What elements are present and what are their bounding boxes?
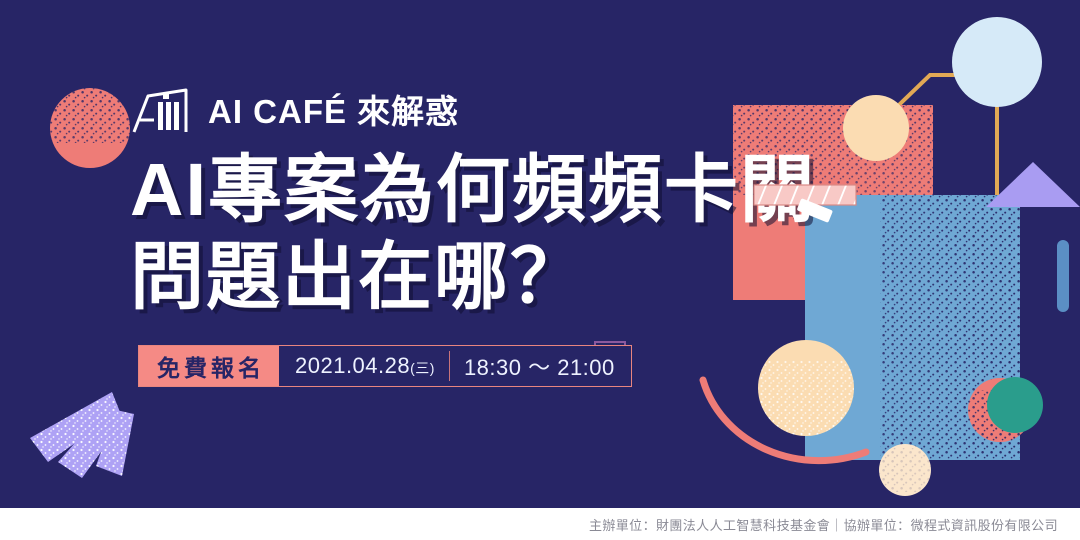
peach-circle-lower-icon — [758, 340, 854, 436]
brand-name: AI CAFÉ 來解惑 — [208, 95, 459, 128]
event-date-value: 2021.04.28 — [295, 353, 410, 379]
event-info-fields: 2021.04.28 (三) 18:30 ～ 21:00 — [279, 346, 631, 386]
coral-circle-top-left-icon — [50, 88, 130, 168]
footer-credits: 主辦單位：財團法人人工智慧科技基金會｜協辦單位：微程式資訊股份有限公司 — [589, 515, 1080, 534]
blue-rounded-bar-icon — [1057, 240, 1069, 312]
teal-circle-icon — [987, 377, 1043, 433]
event-weekday: (三) — [410, 358, 435, 378]
decorative-graphics — [0, 0, 1080, 508]
info-divider — [449, 351, 450, 381]
peach-circle-upper-icon — [843, 95, 909, 161]
aif-logo-icon — [130, 86, 194, 136]
event-time: 18:30 ～ 21:00 — [464, 350, 615, 382]
footer: 主辦單位：財團法人人工智慧科技基金會｜協辦單位：微程式資訊股份有限公司 — [0, 508, 1080, 540]
event-banner: AI CAFÉ 來解惑 AI專案為何頻頻卡關 問題出在哪？ 免費報名 2021. — [0, 0, 1080, 540]
free-registration-badge[interactable]: 免費報名 — [139, 346, 279, 386]
event-info-bar: 免費報名 2021.04.28 (三) 18:30 ～ 21:00 — [138, 345, 632, 387]
event-date: 2021.04.28 (三) — [295, 353, 435, 379]
light-blue-circle-icon — [952, 17, 1042, 107]
brand-lockup: AI CAFÉ 來解惑 — [130, 86, 459, 136]
cream-circle-icon — [879, 444, 931, 496]
banner-stage: AI CAFÉ 來解惑 AI專案為何頻頻卡關 問題出在哪？ 免費報名 2021. — [0, 0, 1080, 508]
